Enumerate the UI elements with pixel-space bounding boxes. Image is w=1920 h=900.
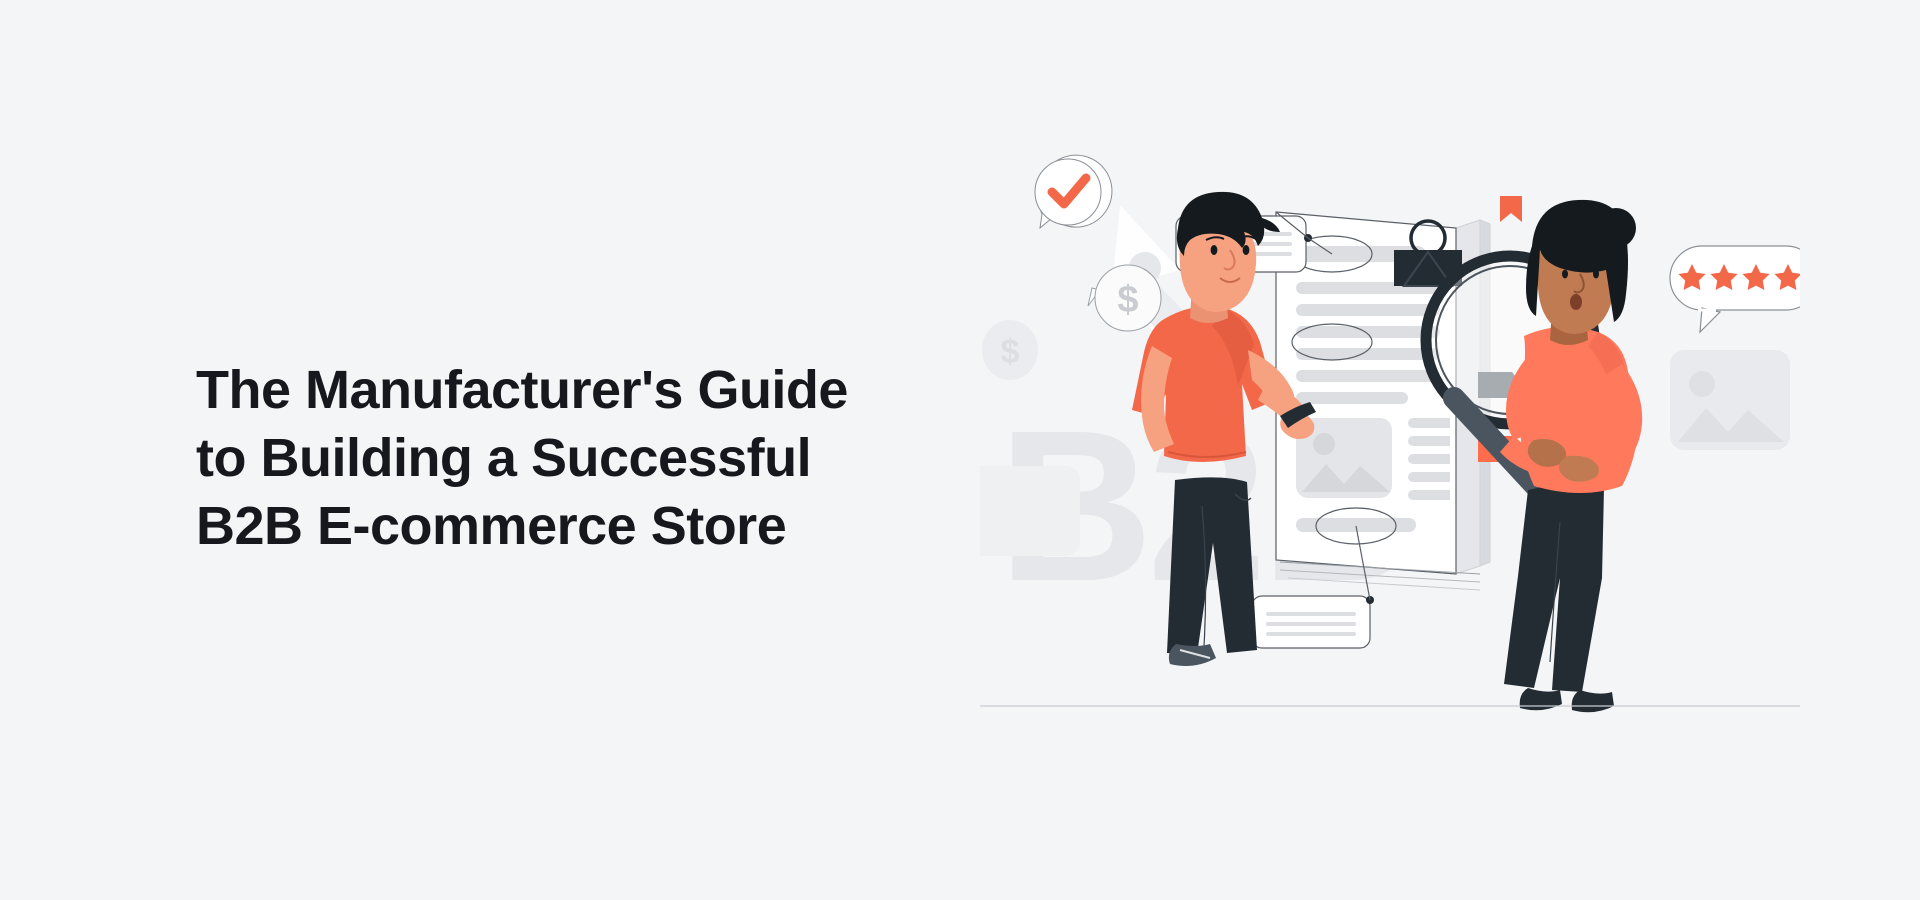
eye-left-w <box>1562 270 1568 279</box>
mouth-open <box>1570 294 1582 310</box>
page-title: The Manufacturer's Guide to Building a S… <box>196 356 996 560</box>
tab-marker-top <box>1500 196 1522 222</box>
shoe-left <box>1169 644 1216 666</box>
dollar-bubble: $ <box>1088 265 1161 331</box>
hero-banner: The Manufacturer's Guide to Building a S… <box>0 0 1920 900</box>
hero-illustration: B2B $ <box>980 150 1800 750</box>
dollar-icon: $ <box>1117 279 1138 321</box>
star-rating-bubble <box>1670 246 1800 332</box>
hair-bun <box>1596 208 1636 248</box>
svg-text:$: $ <box>1001 333 1020 371</box>
eye-right <box>1243 245 1250 255</box>
checkmark-bubble <box>1035 155 1112 228</box>
faded-tile <box>980 466 1080 556</box>
shoe-left-w <box>1520 688 1562 710</box>
image-placeholder-floating <box>1670 350 1790 450</box>
eye-right-w <box>1593 270 1599 279</box>
eye-left <box>1211 245 1218 255</box>
shoe-right-w <box>1572 690 1614 712</box>
